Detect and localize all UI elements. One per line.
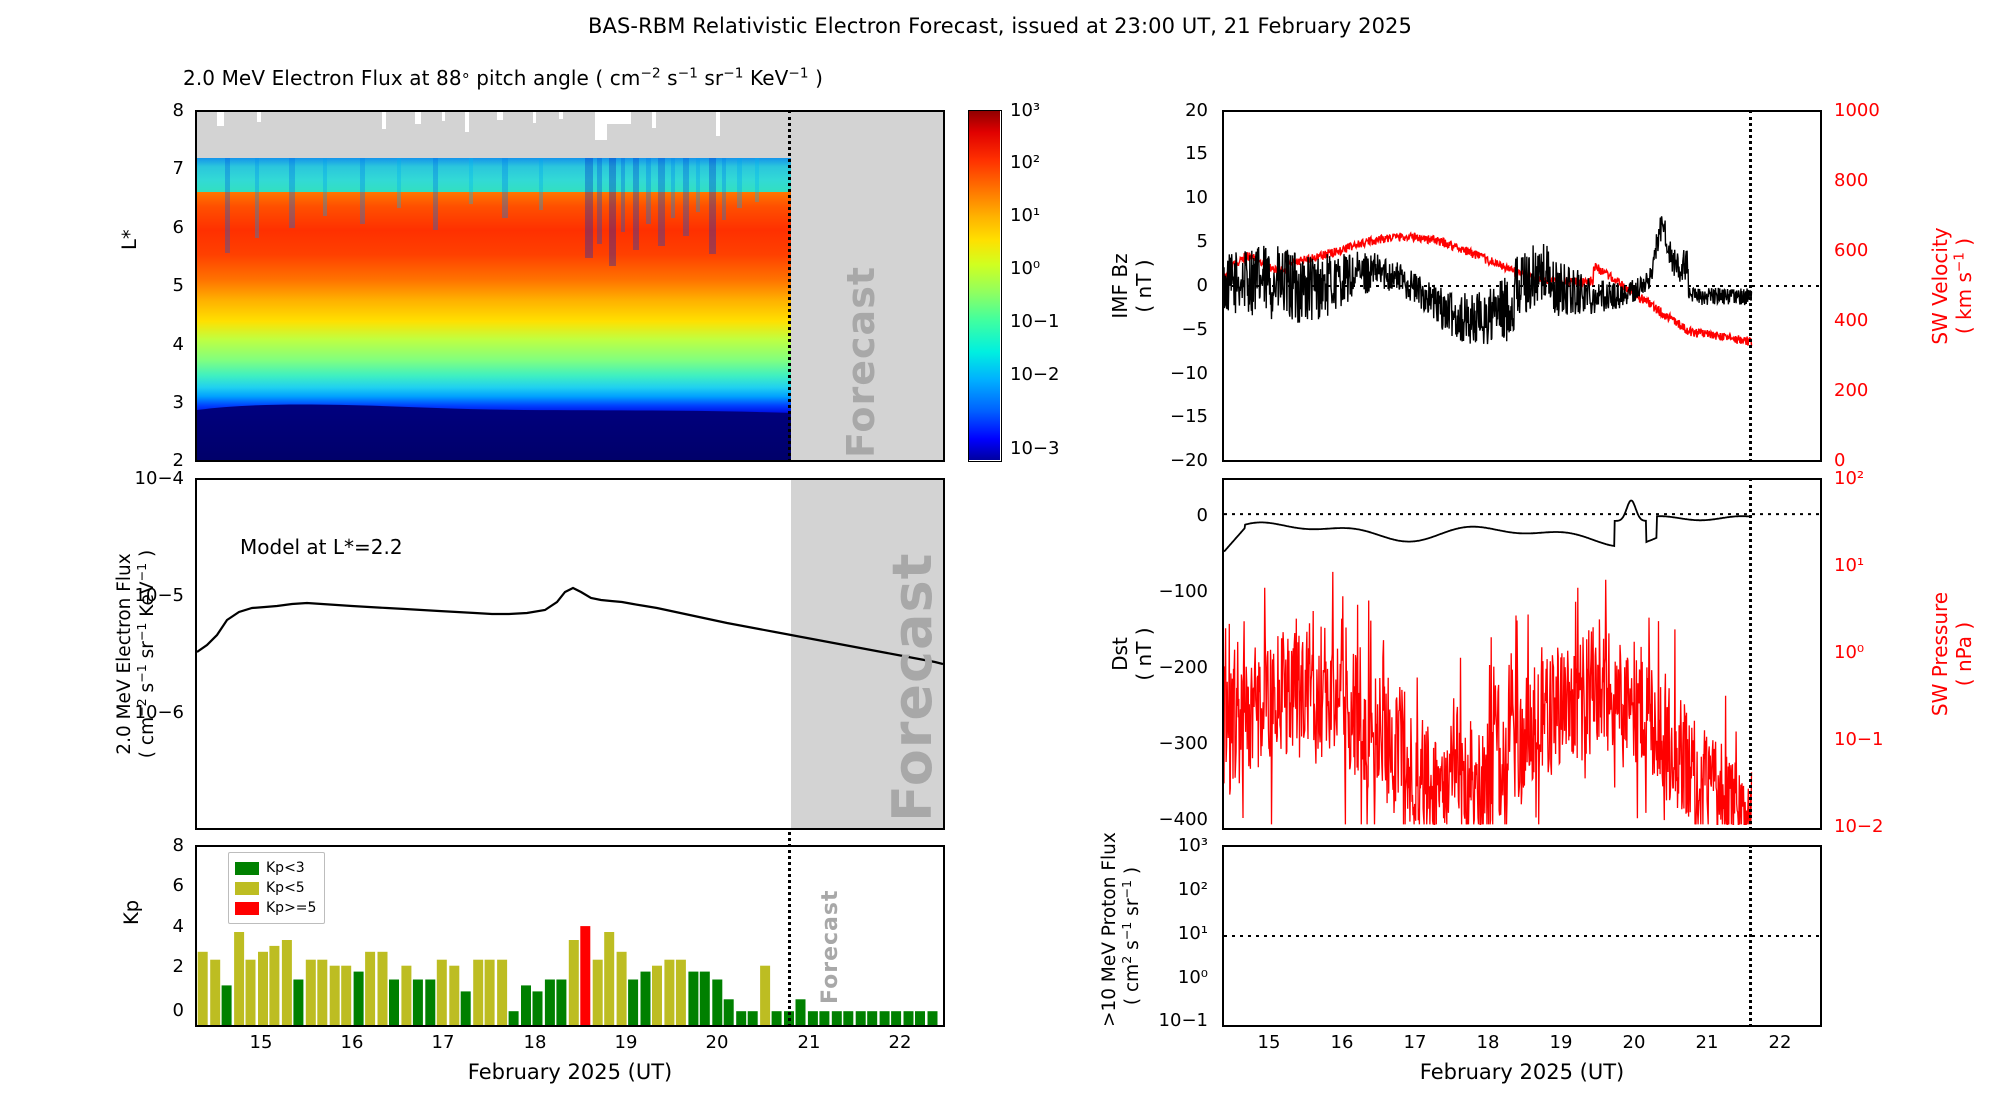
kp-bar: [354, 972, 364, 1025]
kp-xtick-15: 15: [241, 1032, 281, 1053]
model-flux-annotation: Model at L*=2.2: [240, 535, 403, 559]
kp-bar: [473, 960, 483, 1025]
proton-xtick-21: 21: [1687, 1032, 1727, 1053]
proton-flux-trace: [1224, 847, 1820, 1025]
proton-ylabel: >10 MeV Proton Flux ( cm2 s−1 sr−1 ): [1098, 845, 1128, 1027]
kp-legend-item-high: Kp>=5: [235, 898, 316, 918]
kp-legend-swatch-high: [235, 902, 259, 915]
kp-xtick-20: 20: [697, 1032, 737, 1053]
forecast-divider-bz: [1749, 110, 1752, 462]
proton-ytick-1e0: 10⁰: [1126, 967, 1208, 988]
bz-ylabel: IMF Bz ( nT ): [1108, 110, 1138, 462]
kp-bar: [341, 966, 351, 1025]
proton-ytick-1e2: 10²: [1126, 879, 1208, 900]
flux-map-ytick-3: 3: [140, 392, 184, 413]
proton-xtick-18: 18: [1468, 1032, 1508, 1053]
vel-ytick-800: 800: [1834, 170, 1868, 191]
kp-bar: [832, 1011, 842, 1025]
proton-ytick-1em1: 10−1: [1126, 1010, 1208, 1031]
flux-map-ytick-5: 5: [140, 275, 184, 296]
dst-trace: [1224, 501, 1752, 552]
kp-bar: [365, 952, 375, 1025]
model-flux-ytick-1em5: 10−5: [100, 585, 184, 606]
colorbar-tick-1em2: 10−2: [1010, 364, 1059, 385]
kp-bar: [258, 952, 268, 1025]
kp-bar: [521, 985, 531, 1025]
kp-bar: [915, 1011, 925, 1025]
kp-legend-item-low: Kp<3: [235, 858, 316, 878]
forecast-divider-proton: [1749, 845, 1752, 1027]
kp-bar: [389, 980, 399, 1026]
colorbar: [968, 110, 1002, 462]
kp-bar: [198, 952, 208, 1025]
pressure-ylabel: SW Pressure ( nPa ): [1928, 478, 1958, 830]
kp-legend-label-low: Kp<3: [266, 860, 305, 876]
kp-ytick-8: 8: [140, 835, 184, 856]
pressure-ytick-1em2: 10−2: [1834, 816, 1883, 837]
colorbar-gradient: [969, 111, 1000, 460]
kp-bar: [413, 980, 423, 1026]
kp-bar: [928, 1011, 938, 1025]
bz-ytick-0: 0: [1140, 275, 1208, 296]
kp-bar: [664, 960, 674, 1025]
kp-bar: [449, 966, 459, 1025]
kp-bar: [222, 985, 232, 1025]
kp-bar: [569, 940, 579, 1025]
proton-flux-panel: [1222, 845, 1822, 1027]
kp-bar: [533, 991, 543, 1025]
kp-xtick-19: 19: [606, 1032, 646, 1053]
kp-bar: [856, 1011, 866, 1025]
kp-bar: [556, 980, 566, 1026]
kp-ytick-6: 6: [140, 875, 184, 896]
kp-legend: Kp<3 Kp<5 Kp>=5: [228, 852, 325, 924]
model-flux-ylabel: 2.0 MeV Electron Flux ( cm−2 s−1 sr−1 Ke…: [114, 478, 144, 830]
proton-xtick-15: 15: [1249, 1032, 1289, 1053]
kp-bar: [425, 980, 435, 1026]
kp-bar: [712, 980, 722, 1026]
kp-bar: [461, 991, 471, 1025]
pressure-ytick-1em1: 10−1: [1834, 729, 1883, 750]
kp-bar: [676, 960, 686, 1025]
kp-ytick-2: 2: [140, 956, 184, 977]
kp-xtick-16: 16: [332, 1032, 372, 1053]
kp-bar: [617, 952, 627, 1025]
bz-ytick-m15: −15: [1140, 406, 1208, 427]
dst-ytick-m300: −300: [1120, 733, 1208, 754]
model-flux-ytick-1em4: 10−4: [100, 468, 184, 489]
kp-bar: [904, 1011, 914, 1025]
dst-ytick-m400: −400: [1120, 809, 1208, 830]
kp-legend-item-mid: Kp<5: [235, 878, 316, 898]
kp-bar: [401, 966, 411, 1025]
kp-xtick-18: 18: [515, 1032, 555, 1053]
kp-bar: [891, 1011, 901, 1025]
forecast-divider-dst: [1749, 478, 1752, 830]
kp-ytick-4: 4: [140, 916, 184, 937]
kp-bar: [843, 1011, 853, 1025]
kp-bar: [269, 946, 279, 1025]
kp-legend-swatch-low: [235, 862, 259, 875]
bz-ytick-20: 20: [1140, 100, 1208, 121]
kp-bar: [282, 940, 292, 1025]
proton-xtick-19: 19: [1541, 1032, 1581, 1053]
colorbar-tick-1e0: 10⁰: [1010, 258, 1040, 279]
bz-ytick-m20: −20: [1140, 450, 1208, 471]
kp-xtick-21: 21: [789, 1032, 829, 1053]
proton-ytick-1e1: 10¹: [1126, 923, 1208, 944]
colorbar-tick-1em1: 10−1: [1010, 311, 1059, 332]
kp-bar: [246, 960, 256, 1025]
forecast-divider-map: [788, 110, 791, 462]
kp-bar: [210, 960, 220, 1025]
kp-bar: [880, 1011, 890, 1025]
bz-ytick-m10: −10: [1140, 363, 1208, 384]
kp-bar: [509, 1011, 519, 1025]
kp-bar: [234, 932, 244, 1025]
kp-bar: [580, 926, 590, 1025]
colorbar-tick-1em3: 10−3: [1010, 438, 1059, 459]
vel-ytick-1000: 1000: [1834, 100, 1880, 121]
kp-bar: [604, 932, 614, 1025]
kp-bar: [688, 972, 698, 1025]
forecast-watermark-model: Forecast: [827, 482, 887, 830]
dst-pressure-panel: [1222, 478, 1822, 830]
bz-ytick-10: 10: [1140, 187, 1208, 208]
model-flux-panel: Forecast: [195, 478, 945, 830]
dst-pressure-traces: [1224, 480, 1820, 828]
forecast-divider-kp: [788, 832, 791, 1027]
model-flux-ytick-1em6: 10−6: [100, 702, 184, 723]
proton-xtick-17: 17: [1395, 1032, 1435, 1053]
pressure-ytick-1e2: 10²: [1834, 468, 1864, 489]
kp-bar: [545, 980, 555, 1026]
velocity-ylabel: SW Velocity ( km s−1 ): [1928, 110, 1958, 462]
proton-xtick-20: 20: [1614, 1032, 1654, 1053]
vel-ytick-400: 400: [1834, 310, 1868, 331]
colorbar-tick-1e3: 10³: [1010, 100, 1040, 121]
kp-bar: [485, 960, 495, 1025]
flux-map-ylabel: L*: [118, 250, 139, 273]
kp-xtick-22: 22: [880, 1032, 920, 1053]
dst-ytick-0: 0: [1140, 505, 1208, 526]
proton-ytick-1e3: 10³: [1126, 835, 1208, 856]
dst-ytick-m100: −100: [1120, 581, 1208, 602]
forecast-watermark-kp: Forecast: [796, 848, 824, 1008]
kp-bar: [293, 980, 303, 1026]
kp-bar: [378, 952, 388, 1025]
kp-xlabel: February 2025 (UT): [195, 1060, 945, 1084]
flux-map-ytick-6: 6: [140, 217, 184, 238]
pressure-ytick-1e0: 10⁰: [1834, 642, 1864, 663]
kp-xtick-17: 17: [423, 1032, 463, 1053]
kp-bar: [330, 966, 340, 1025]
bz-velocity-panel: [1222, 110, 1822, 462]
kp-bar: [497, 960, 507, 1025]
kp-bar: [593, 960, 603, 1025]
kp-bar: [808, 1011, 818, 1025]
proton-xlabel: February 2025 (UT): [1222, 1060, 1822, 1084]
kp-ytick-0: 0: [140, 1000, 184, 1021]
vel-ytick-200: 200: [1834, 380, 1868, 401]
forecast-watermark-map: Forecast: [801, 114, 841, 462]
flux-map-panel: Forecast: [195, 110, 945, 462]
vel-ytick-600: 600: [1834, 240, 1868, 261]
kp-bar: [700, 972, 710, 1025]
kp-bar: [306, 960, 316, 1025]
kp-legend-label-mid: Kp<5: [266, 880, 305, 896]
colorbar-tick-1e1: 10¹: [1010, 205, 1040, 226]
kp-bar: [819, 1011, 829, 1025]
proton-xtick-22: 22: [1760, 1032, 1800, 1053]
kp-bar: [724, 999, 734, 1025]
kp-legend-swatch-mid: [235, 882, 259, 895]
kp-bar: [760, 966, 770, 1025]
kp-bar: [317, 960, 327, 1025]
dst-ytick-m200: −200: [1120, 657, 1208, 678]
figure-title: BAS-RBM Relativistic Electron Forecast, …: [0, 14, 2000, 38]
flux-map-subtitle: 2.0 MeV Electron Flux at 88° pitch angle…: [183, 66, 823, 90]
kp-legend-label-high: Kp>=5: [266, 900, 316, 916]
kp-bar: [641, 972, 651, 1025]
kp-bar: [867, 1011, 877, 1025]
colorbar-tick-1e2: 10²: [1010, 152, 1040, 173]
bz-ytick-m5: −5: [1140, 319, 1208, 340]
bz-ytick-5: 5: [1140, 231, 1208, 252]
bz-velocity-traces: [1224, 112, 1820, 460]
sw-pressure-trace: [1224, 572, 1752, 825]
kp-bar: [748, 1011, 758, 1025]
bz-ytick-15: 15: [1140, 143, 1208, 164]
kp-bar: [736, 1011, 746, 1025]
pressure-ytick-1e1: 10¹: [1834, 555, 1864, 576]
imf-bz-trace: [1224, 216, 1752, 344]
kp-bar: [437, 960, 447, 1025]
kp-bar: [772, 1011, 782, 1025]
kp-bar: [628, 980, 638, 1026]
kp-bar: [652, 966, 662, 1025]
dst-ylabel: Dst ( nT ): [1108, 478, 1138, 830]
flux-map-ytick-7: 7: [140, 158, 184, 179]
flux-map-ytick-8: 8: [140, 100, 184, 121]
flux-map-ytick-4: 4: [140, 334, 184, 355]
proton-xtick-16: 16: [1322, 1032, 1362, 1053]
